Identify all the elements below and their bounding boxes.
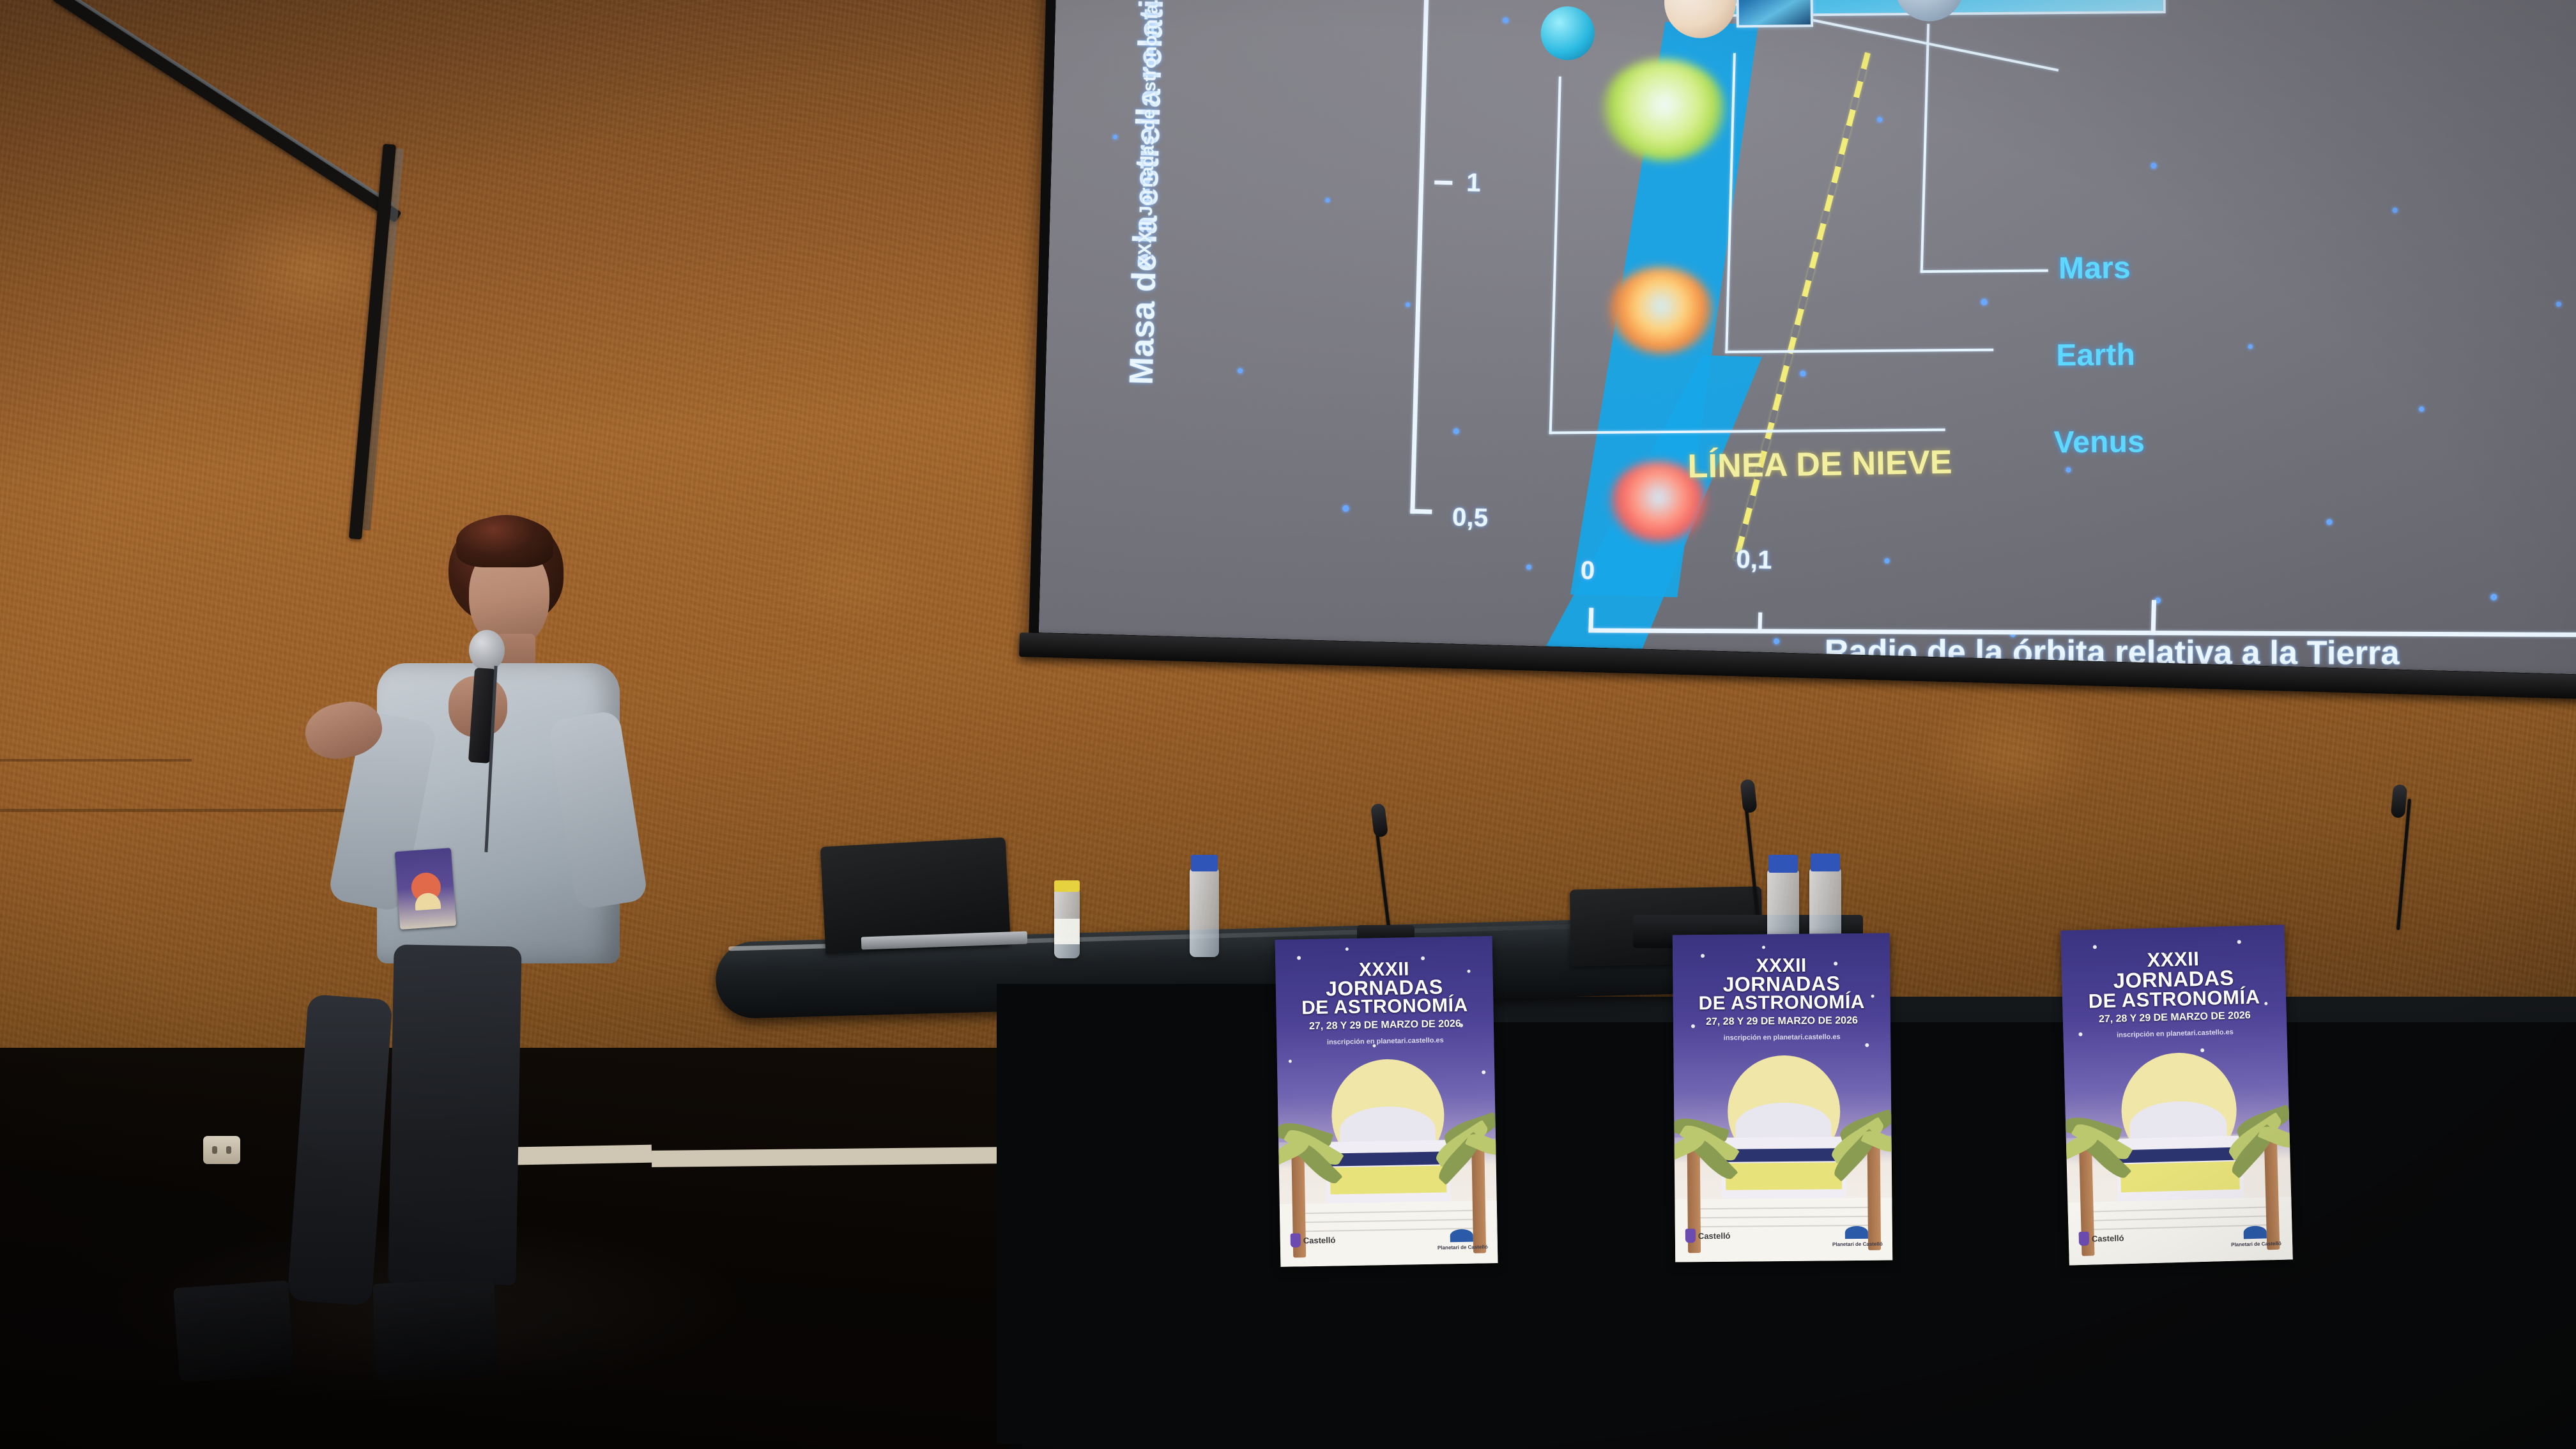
- planetari-logo-dome: [1845, 1226, 1868, 1239]
- x-axis-cap-left: [1588, 608, 1593, 631]
- wall-seam: [0, 759, 192, 762]
- poster-star: [1289, 1060, 1292, 1063]
- label-venus: Venus: [2053, 424, 2145, 460]
- planetari-logo-dome: [1450, 1229, 1473, 1243]
- poster-1: XXXII JORNADAS DE ASTRONOMÍA 27, 28 Y 29…: [1275, 936, 1498, 1267]
- planetari-logo-dome: [2243, 1225, 2267, 1239]
- conference-photo-scene: 2 1 0,5 Masa de la estrella relativa al …: [0, 0, 2576, 1449]
- castello-logo-text: Castelló: [2092, 1233, 2124, 1243]
- poster-building-blue-band: [1722, 1148, 1846, 1162]
- poster-star: [1762, 946, 1765, 949]
- poster-2: XXXII JORNADAS DE ASTRONOMÍA 27, 28 Y 29…: [1673, 933, 1892, 1262]
- poster-star: [1297, 956, 1301, 960]
- label-earth: Earth: [2056, 337, 2135, 373]
- x-tick-label-0: 0: [1580, 556, 1595, 586]
- castello-logo-shield: [2079, 1232, 2090, 1246]
- castello-logo-shield: [1291, 1233, 1301, 1247]
- poster-title-line3: DE ASTRONOMÍA: [1276, 995, 1493, 1018]
- castello-logo-text: Castelló: [1698, 1231, 1731, 1241]
- y-tick-label-05: 0,5: [1452, 503, 1488, 533]
- x-axis-tick-01: [1758, 612, 1762, 631]
- power-outlet: [203, 1136, 240, 1164]
- small-bottle-label: [1054, 919, 1080, 944]
- y-axis-tick-1: [1434, 180, 1452, 185]
- water-bottle-3-cap: [1811, 854, 1840, 871]
- x-axis-tick-1: [2151, 600, 2156, 634]
- speaker-boot-right: [372, 1280, 497, 1381]
- poster-star: [1482, 1070, 1485, 1074]
- poster-star: [2093, 945, 2097, 949]
- water-bottle-2-cap: [1768, 855, 1798, 873]
- castello-logo-shield: [1685, 1229, 1696, 1243]
- poster-building-blue-band: [1326, 1151, 1450, 1166]
- poster-title-line3: DE ASTRONOMÍA: [1673, 992, 1890, 1014]
- y-axis-cap-bottom: [1410, 509, 1432, 514]
- conference-badge: [395, 848, 456, 930]
- projection-screen-surface: 2 1 0,5 Masa de la estrella relativa al …: [1039, 0, 2576, 675]
- poster-3: XXXII JORNADAS DE ASTRONOMÍA 27, 28 Y 29…: [2060, 925, 2293, 1266]
- planetari-logo-text: Planetari de Castelló: [1437, 1244, 1488, 1250]
- label-mars: Mars: [2058, 250, 2131, 286]
- poster-dates: 27, 28 Y 29 DE MARZO DE 2026: [1673, 1015, 1890, 1029]
- speaker-trousers: [388, 944, 521, 1285]
- slide-lighting: [1039, 0, 2576, 675]
- water-bottle-1-cap: [1191, 855, 1218, 871]
- y-tick-label-1: 1: [1466, 169, 1482, 198]
- castello-logo-text: Castelló: [1303, 1235, 1336, 1245]
- poster-building-yellow-band: [1330, 1165, 1447, 1194]
- speaker-hair-fringe: [456, 516, 553, 567]
- label-snow-line: LÍNEA DE NIEVE: [1687, 443, 1952, 486]
- poster-building-yellow-band: [2120, 1161, 2240, 1192]
- callout-box-earth-inset: [1736, 0, 1813, 27]
- poster-building-yellow-band: [1726, 1162, 1842, 1190]
- planetari-logo-text: Planetari de Castelló: [1832, 1241, 1883, 1248]
- poster-star: [1865, 1043, 1869, 1047]
- handheld-microphone-head: [469, 630, 505, 671]
- water-bottle-1: [1190, 868, 1219, 957]
- poster-star: [1345, 947, 1349, 951]
- speaker-boot-left: [173, 1280, 295, 1383]
- x-tick-label-01: 0,1: [1736, 545, 1772, 575]
- small-bottle-cap: [1054, 880, 1080, 892]
